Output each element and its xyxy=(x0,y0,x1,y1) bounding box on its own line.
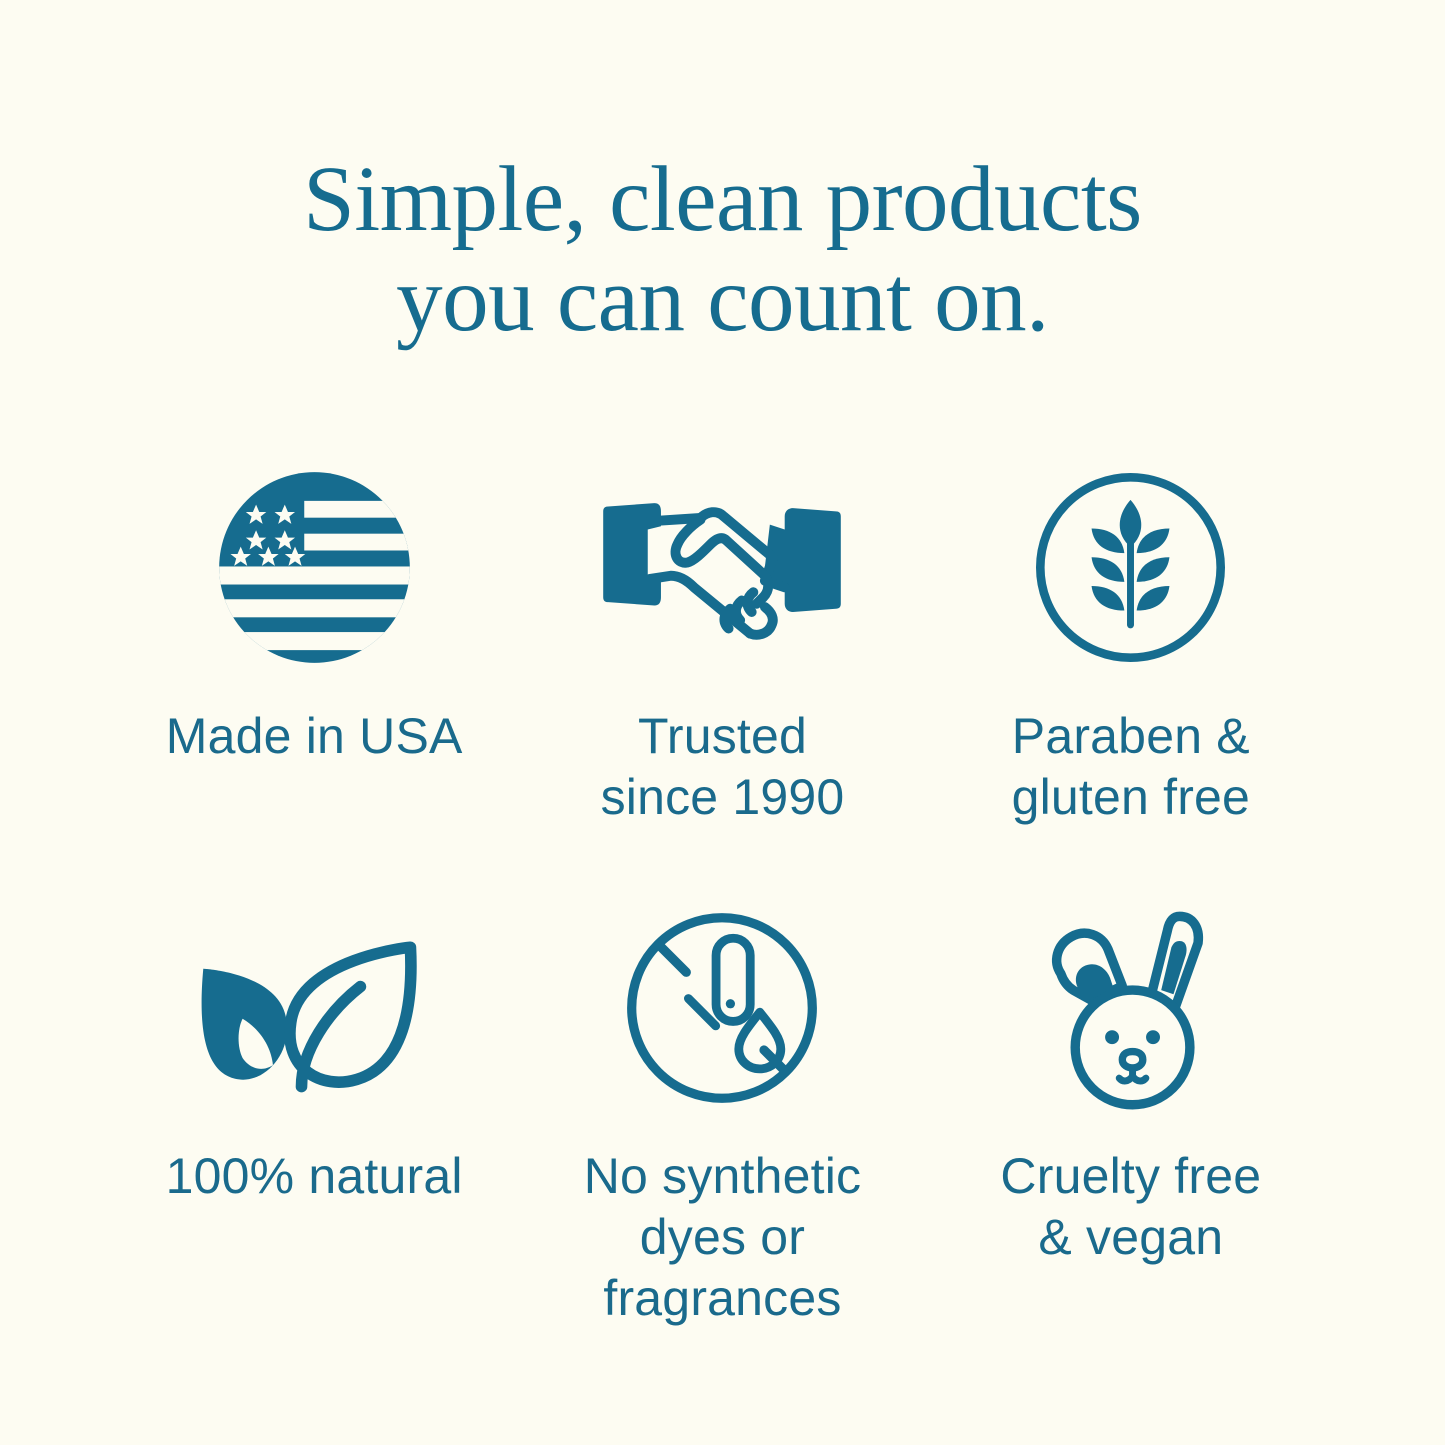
badge-caption-line: since 1990 xyxy=(601,767,845,828)
badge-paraben-gluten-free: Paraben & gluten free xyxy=(927,455,1335,895)
badge-caption-line: 100% natural xyxy=(166,1146,463,1207)
page-title: Simple, clean products you can count on. xyxy=(0,150,1445,349)
badge-caption: Cruelty free & vegan xyxy=(1000,1146,1261,1268)
no-test-tube-droplet-icon xyxy=(617,895,827,1120)
wheat-stalk-circle-icon xyxy=(1028,455,1233,680)
badge-cruelty-free-vegan: Cruelty free & vegan xyxy=(927,895,1335,1335)
badge-grid: Made in USA xyxy=(110,455,1335,1335)
badge-made-in-usa: Made in USA xyxy=(110,455,518,895)
page-title-line-2: you can count on. xyxy=(0,250,1445,350)
badge-caption-line: No synthetic xyxy=(584,1146,862,1207)
badge-caption: No synthetic dyes or fragrances xyxy=(584,1146,862,1329)
badge-caption-line: & vegan xyxy=(1000,1207,1261,1268)
badge-caption-line: Paraben & xyxy=(1012,706,1250,767)
badge-caption: Made in USA xyxy=(166,706,463,767)
badge-no-synthetic-dyes: No synthetic dyes or fragrances xyxy=(518,895,926,1335)
badge-trusted-since: Trusted since 1990 xyxy=(518,455,926,895)
badge-100-percent-natural: 100% natural xyxy=(110,895,518,1335)
badge-caption: Paraben & gluten free xyxy=(1012,706,1250,828)
badge-caption-line: Trusted xyxy=(601,706,845,767)
usa-flag-circle-icon xyxy=(212,455,417,680)
badge-caption-line: dyes or xyxy=(584,1207,862,1268)
badge-caption: Trusted since 1990 xyxy=(601,706,845,828)
badge-caption-line: Made in USA xyxy=(166,706,463,767)
two-leaves-icon xyxy=(189,895,439,1120)
promo-graphic: Simple, clean products you can count on. xyxy=(0,0,1445,1445)
badge-caption: 100% natural xyxy=(166,1146,463,1207)
page-title-line-1: Simple, clean products xyxy=(0,150,1445,250)
bunny-head-icon xyxy=(1028,895,1233,1120)
badge-caption-line: Cruelty free xyxy=(1000,1146,1261,1207)
badge-caption-line: gluten free xyxy=(1012,767,1250,828)
handshake-icon xyxy=(597,455,847,680)
badge-caption-line: fragrances xyxy=(584,1268,862,1329)
